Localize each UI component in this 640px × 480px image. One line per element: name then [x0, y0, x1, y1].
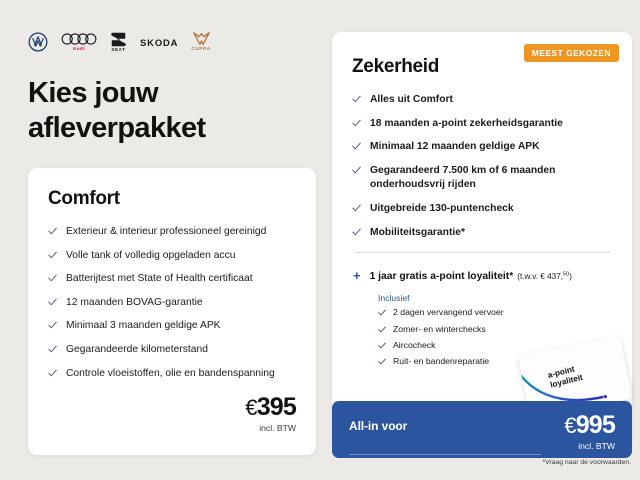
list-item-label: Aircocheck	[393, 340, 436, 351]
brand-logo-bar: Audi SEAT SKODA CUPRA	[28, 29, 211, 55]
check-icon	[352, 95, 361, 104]
check-icon	[48, 321, 57, 330]
zekerheid-feature-list: Alles uit Comfort 18 maanden a-point zek…	[352, 93, 612, 240]
skoda-logo: SKODA	[140, 37, 178, 48]
list-item: Alles uit Comfort	[352, 93, 612, 108]
list-item-label: Gegarandeerde kilometerstand	[66, 343, 208, 358]
status-badge: MEEST GEKOZEN	[524, 44, 619, 62]
cupra-logo: CUPRA	[191, 32, 210, 52]
check-icon	[352, 119, 361, 128]
list-item-label: Batterijtest met State of Health certifi…	[66, 272, 253, 287]
check-icon	[378, 309, 386, 317]
comfort-price: €395	[245, 395, 296, 420]
list-item-label: Controle vloeistoffen, olie en bandenspa…	[66, 367, 275, 382]
list-item: 18 maanden a-point zekerheidsgarantie	[352, 117, 612, 132]
check-icon	[378, 358, 386, 366]
check-icon	[352, 166, 361, 175]
promo-page: Audi SEAT SKODA CUPRA Kies jouw afleverp…	[0, 0, 640, 480]
currency-symbol: €	[564, 413, 575, 438]
list-item-label: Volle tank of volledig opgeladen accu	[66, 249, 235, 264]
list-item: Zomer- en winterchecks	[378, 324, 612, 335]
loyalty-value-suffix: )	[569, 272, 572, 281]
comfort-title: Comfort	[48, 188, 296, 210]
loyalty-title: 1 jaar gratis a-point loyaliteit*	[370, 271, 514, 282]
allin-price: €995	[564, 413, 615, 438]
list-item: Gegarandeerde kilometerstand	[48, 343, 296, 358]
list-item-label: Exterieur & interieur professioneel gere…	[66, 225, 266, 240]
check-icon	[352, 142, 361, 151]
list-item: Batterijtest met State of Health certifi…	[48, 272, 296, 287]
loyalty-value-prefix: (t.w.v. € 437,	[517, 272, 563, 281]
divider	[354, 252, 610, 253]
left-column: Audi SEAT SKODA CUPRA Kies jouw afleverp…	[0, 0, 320, 480]
comfort-price-amount: 395	[257, 393, 296, 421]
check-icon	[378, 342, 386, 350]
allin-price-bar: All-in voor €995 incl. BTW	[332, 401, 632, 458]
check-icon	[352, 228, 361, 237]
loyalty-value: (t.w.v. € 437,50)	[517, 272, 572, 281]
allin-price-row: All-in voor €995 incl. BTW	[349, 413, 615, 451]
page-title: Kies jouw afleverpakket	[28, 76, 308, 147]
check-icon	[48, 298, 57, 307]
list-item-label: Uitgebreide 130-puntencheck	[370, 202, 514, 217]
comfort-price-note: incl. BTW	[245, 423, 296, 433]
comfort-feature-list: Exterieur & interieur professioneel gere…	[48, 225, 296, 381]
volkswagen-logo	[28, 32, 48, 52]
list-item: 12 maanden BOVAG-garantie	[48, 296, 296, 311]
list-item: Exterieur & interieur professioneel gere…	[48, 225, 296, 240]
zekerheid-content: MEEST GEKOZEN Zekerheid Alles uit Comfor…	[332, 32, 632, 368]
allin-price-note: incl. BTW	[564, 441, 615, 451]
currency-symbol: €	[245, 395, 256, 420]
list-item-label: 2 dagen vervangend vervoer	[393, 307, 504, 318]
list-item: Minimaal 3 maanden geldige APK	[48, 319, 296, 334]
list-item-label: Gegarandeerd 7.500 km of 6 maanden onder…	[370, 164, 612, 193]
allin-price-block: €995 incl. BTW	[564, 413, 615, 451]
loyalty-heading: 1 jaar gratis a-point loyaliteit*(t.w.v.…	[370, 266, 572, 284]
list-item-label: Minimaal 12 maanden geldige APK	[370, 140, 540, 155]
list-item: Uitgebreide 130-puntencheck	[352, 202, 612, 217]
check-icon	[48, 274, 57, 283]
seat-logo-label: SEAT	[111, 48, 125, 53]
plus-icon: +	[353, 269, 361, 282]
list-item: Mobiliteitsgarantie*	[352, 226, 612, 241]
included-label: Inclusief	[378, 293, 612, 303]
list-item-label: Minimaal 3 maanden geldige APK	[66, 319, 221, 334]
footnote: *Vraag naar de voorwaarden.	[542, 459, 631, 466]
skoda-logo-label: SKODA	[140, 37, 178, 48]
list-item: Volle tank of volledig opgeladen accu	[48, 249, 296, 264]
check-icon	[352, 204, 361, 213]
check-icon	[48, 227, 57, 236]
zekerheid-package-card: MEEST GEKOZEN Zekerheid Alles uit Comfor…	[332, 32, 632, 445]
comfort-price-block: €395 incl. BTW	[245, 395, 296, 433]
divider	[349, 454, 541, 455]
list-item-label: 18 maanden a-point zekerheidsgarantie	[370, 117, 563, 132]
cupra-logo-label: CUPRA	[191, 47, 210, 52]
list-item: 2 dagen vervangend vervoer	[378, 307, 612, 318]
seat-logo: SEAT	[110, 32, 127, 53]
list-item-label: Ruit- en bandenreparatie	[393, 356, 489, 367]
check-icon	[48, 369, 57, 378]
list-item-label: Alles uit Comfort	[370, 93, 453, 108]
list-item: Gegarandeerd 7.500 km of 6 maanden onder…	[352, 164, 612, 193]
allin-price-amount: 995	[576, 411, 615, 439]
loyalty-row: + 1 jaar gratis a-point loyaliteit*(t.w.…	[352, 266, 612, 284]
list-item: Minimaal 12 maanden geldige APK	[352, 140, 612, 155]
list-item-label: 12 maanden BOVAG-garantie	[66, 296, 203, 311]
allin-label: All-in voor	[349, 413, 407, 433]
check-icon	[48, 345, 57, 354]
audi-logo: Audi	[61, 32, 97, 52]
list-item-label: Zomer- en winterchecks	[393, 324, 486, 335]
audi-logo-label: Audi	[73, 47, 86, 52]
check-icon	[378, 326, 386, 334]
list-item-label: Mobiliteitsgarantie*	[370, 226, 465, 241]
comfort-package-card: Comfort Exterieur & interieur profession…	[28, 168, 316, 455]
check-icon	[48, 251, 57, 260]
list-item: Controle vloeistoffen, olie en bandenspa…	[48, 367, 296, 382]
